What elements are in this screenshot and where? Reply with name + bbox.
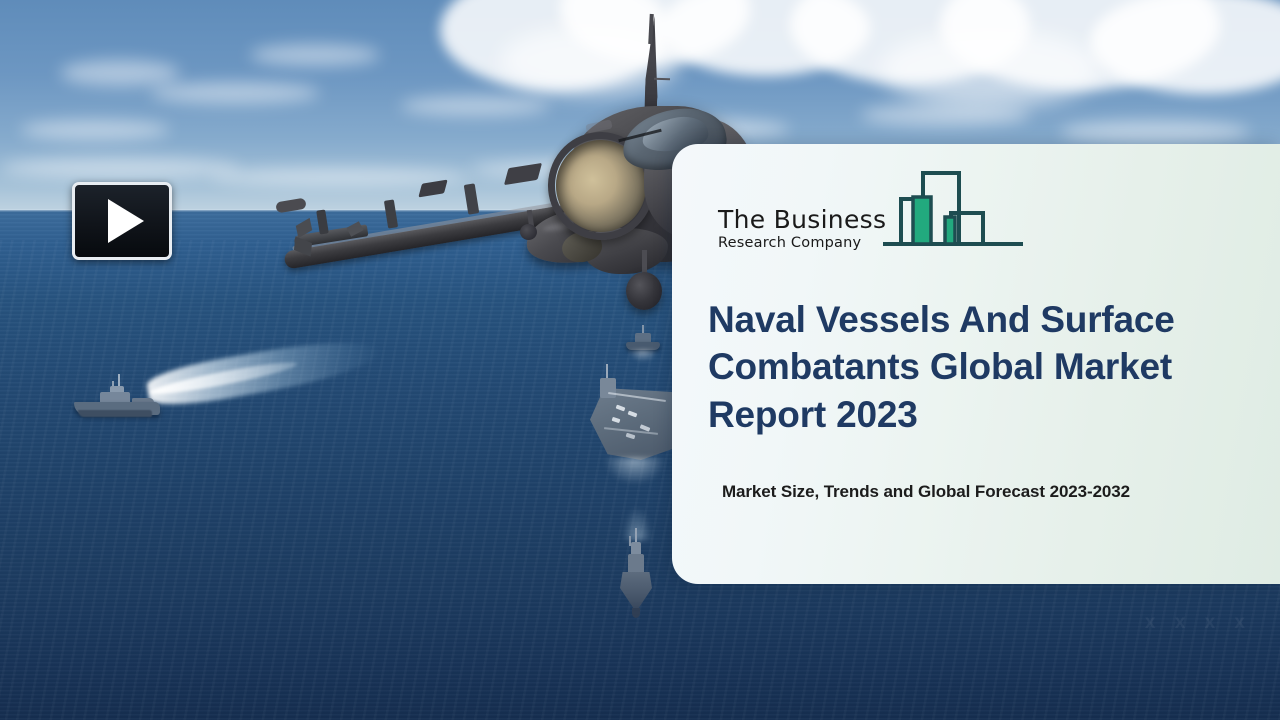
company-logo-line2: Research Company	[718, 235, 886, 252]
cloud	[60, 60, 180, 86]
company-logo[interactable]: The Business Research Company	[718, 186, 1023, 256]
cloud	[1060, 120, 1250, 144]
report-info-card: The Business Research Company	[672, 144, 1280, 584]
harrier-jet	[270, 14, 740, 324]
report-title: Naval Vessels And Surface Combatants Glo…	[708, 296, 1260, 438]
distant-ship	[626, 330, 660, 352]
frigate-ship	[612, 528, 662, 614]
destroyer-ship	[74, 384, 160, 418]
presentation-slide: The Business Research Company	[0, 0, 1280, 720]
aircraft-carrier	[586, 372, 684, 468]
company-logo-line1: The Business	[718, 207, 886, 233]
video-play-button[interactable]	[72, 182, 172, 260]
cloud	[20, 120, 170, 140]
cloud	[0, 158, 240, 178]
cloud	[880, 30, 1100, 108]
background-watermark: x x x x	[1145, 612, 1252, 634]
report-subtitle: Market Size, Trends and Global Forecast …	[722, 479, 1142, 505]
play-triangle-icon	[108, 199, 144, 243]
cloud	[860, 104, 1030, 126]
company-logo-text: The Business Research Company	[718, 207, 886, 256]
bar-chart-logo-icon	[883, 165, 1023, 256]
